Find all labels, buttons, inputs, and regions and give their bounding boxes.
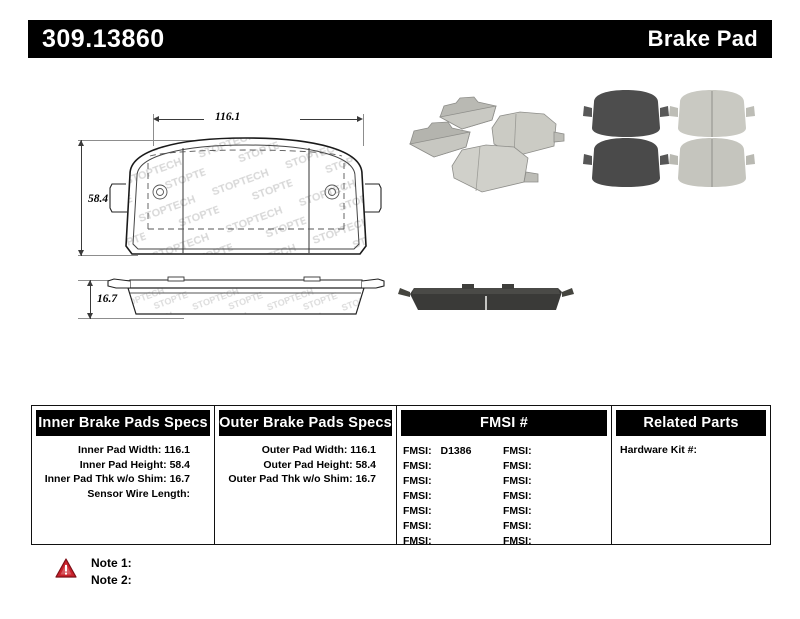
spec-label: Inner Pad Width: <box>78 444 161 456</box>
column-body-inner: Inner Pad Width: 116.1 Inner Pad Height:… <box>32 440 214 542</box>
column-body-outer: Outer Pad Width: 116.1 Outer Pad Height:… <box>215 440 396 542</box>
warning-triangle-icon <box>55 558 77 578</box>
pad-side-drawing: STOPTECH STOPTECH <box>106 274 386 324</box>
arrow-thk-top <box>87 280 93 286</box>
fmsi-row: FMSI: <box>503 534 603 549</box>
column-header-related: Related Parts <box>616 410 766 436</box>
spec-row: Inner Pad Height: 58.4 <box>32 458 214 473</box>
dimension-label-width: 116.1 <box>215 111 240 123</box>
fmsi-label: FMSI: <box>403 490 432 502</box>
fmsi-value <box>532 520 538 532</box>
fmsi-value: D1386 <box>435 445 472 457</box>
spec-value: 116.1 <box>164 444 190 456</box>
photo-pad-edge <box>398 276 574 324</box>
related-row: Hardware Kit #: <box>612 443 770 458</box>
fmsi-row: FMSI: <box>503 444 603 459</box>
fmsi-row: FMSI: <box>403 474 503 489</box>
spec-row: Inner Pad Width: 116.1 <box>32 443 214 458</box>
column-title-inner: Inner Brake Pads Specs <box>38 415 208 431</box>
spec-value: 58.4 <box>170 459 190 471</box>
spec-row: Outer Pad Thk w/o Shim: 16.7 <box>215 472 396 487</box>
fmsi-row: FMSI: <box>503 489 603 504</box>
note-line-1: Note 1: <box>91 555 132 572</box>
arrow-height-top <box>78 140 84 146</box>
arrow-width-right <box>357 116 363 122</box>
fmsi-value <box>532 535 538 547</box>
fmsi-label: FMSI: <box>403 460 432 472</box>
fmsi-row: FMSI: <box>503 504 603 519</box>
fmsi-label: FMSI: <box>503 460 532 472</box>
spec-label: Inner Pad Thk w/o Shim: <box>45 473 167 485</box>
fmsi-row: FMSI: <box>403 489 503 504</box>
spec-label: Inner Pad Height: <box>80 459 167 471</box>
fmsi-label: FMSI: <box>503 505 532 517</box>
fmsi-value <box>532 505 538 517</box>
fmsi-row: FMSI: D1386 <box>403 444 503 459</box>
fmsi-label: FMSI: <box>503 445 532 457</box>
column-body-related: Hardware Kit #: <box>612 440 770 542</box>
spec-row: Sensor Wire Length: <box>32 487 214 502</box>
fmsi-label: FMSI: <box>403 505 432 517</box>
spec-row: Outer Pad Height: 58.4 <box>215 458 396 473</box>
arrow-height-bottom <box>78 250 84 256</box>
fmsi-value <box>532 445 538 457</box>
fmsi-row: FMSI: <box>503 459 603 474</box>
spec-value: 16.7 <box>170 473 190 485</box>
fmsi-row: FMSI: <box>403 534 503 549</box>
product-category: Brake Pad <box>648 28 758 50</box>
column-related-parts: Related Parts Hardware Kit #: <box>611 406 770 544</box>
spec-value: 58.4 <box>356 459 376 471</box>
fmsi-value <box>432 520 438 532</box>
fmsi-value <box>532 475 538 487</box>
spec-label: Outer Pad Height: <box>263 459 352 471</box>
spec-label: Sensor Wire Length: <box>87 488 190 500</box>
column-header-fmsi: FMSI # <box>401 410 607 436</box>
fmsi-label: FMSI: <box>403 535 432 547</box>
spec-label: Outer Pad Thk w/o Shim: <box>228 473 352 485</box>
part-number: 309.13860 <box>42 27 165 52</box>
dimension-line-height <box>81 140 82 256</box>
column-title-outer: Outer Brake Pads Specs <box>219 415 392 431</box>
pad-face-drawing: STOPTECH STOPTECH <box>108 134 384 262</box>
column-outer-specs: Outer Brake Pads Specs Outer Pad Width: … <box>214 406 396 544</box>
fmsi-label: FMSI: <box>503 520 532 532</box>
note-lines: Note 1: Note 2: <box>91 555 132 589</box>
fmsi-label: FMSI: <box>403 475 432 487</box>
column-header-inner: Inner Brake Pads Specs <box>36 410 210 436</box>
spec-row: Inner Pad Thk w/o Shim: 16.7 <box>32 472 214 487</box>
fmsi-label: FMSI: <box>503 475 532 487</box>
fmsi-value <box>432 490 438 502</box>
dimension-line-width-left <box>156 119 204 120</box>
column-header-outer: Outer Brake Pads Specs <box>219 410 392 436</box>
fmsi-value <box>532 490 538 502</box>
column-title-fmsi: FMSI # <box>480 415 528 431</box>
spec-value: 116.1 <box>350 444 376 456</box>
spec-label: Outer Pad Width: <box>262 444 348 456</box>
fmsi-row: FMSI: <box>403 519 503 534</box>
drawing-area: 116.1 58.4 STOPTECH STOPTECH <box>0 62 800 392</box>
fmsi-value <box>432 505 438 517</box>
fmsi-row: FMSI: <box>503 474 603 489</box>
fmsi-subcolumn-right: FMSI: FMSI: FMSI: FMSI: <box>503 444 603 549</box>
fmsi-row: FMSI: <box>403 504 503 519</box>
fmsi-label: FMSI: <box>503 490 532 502</box>
dimension-label-height: 58.4 <box>88 193 108 205</box>
spec-value: 16.7 <box>356 473 376 485</box>
note-line-2: Note 2: <box>91 572 132 589</box>
header-bar: 309.13860 Brake Pad <box>28 20 772 58</box>
fmsi-row: FMSI: <box>403 459 503 474</box>
fmsi-row: FMSI: <box>503 519 603 534</box>
spec-row: Outer Pad Width: 116.1 <box>215 443 396 458</box>
column-fmsi: FMSI # FMSI: D1386 FMSI: FMSI: <box>396 406 611 544</box>
fmsi-value <box>432 460 438 472</box>
dimension-line-width-right <box>300 119 360 120</box>
photo-pads-angled <box>404 84 574 194</box>
fmsi-value <box>532 460 538 472</box>
column-body-fmsi: FMSI: D1386 FMSI: FMSI: FMSI: <box>397 440 611 542</box>
photo-pads-grid <box>580 84 762 196</box>
fmsi-label: FMSI: <box>403 520 432 532</box>
fmsi-subcolumn-left: FMSI: D1386 FMSI: FMSI: FMSI: <box>403 444 503 549</box>
column-title-related: Related Parts <box>643 415 738 431</box>
fmsi-value <box>432 475 438 487</box>
fmsi-value <box>432 535 438 547</box>
arrow-thk-bottom <box>87 313 93 319</box>
fmsi-label: FMSI: <box>403 445 432 457</box>
column-inner-specs: Inner Brake Pads Specs Inner Pad Width: … <box>32 406 214 544</box>
related-label: Hardware Kit #: <box>620 444 697 456</box>
fmsi-label: FMSI: <box>503 535 532 547</box>
notes-section: Note 1: Note 2: <box>55 555 132 589</box>
arrow-width-left <box>153 116 159 122</box>
specifications-table: Inner Brake Pads Specs Inner Pad Width: … <box>31 405 771 545</box>
